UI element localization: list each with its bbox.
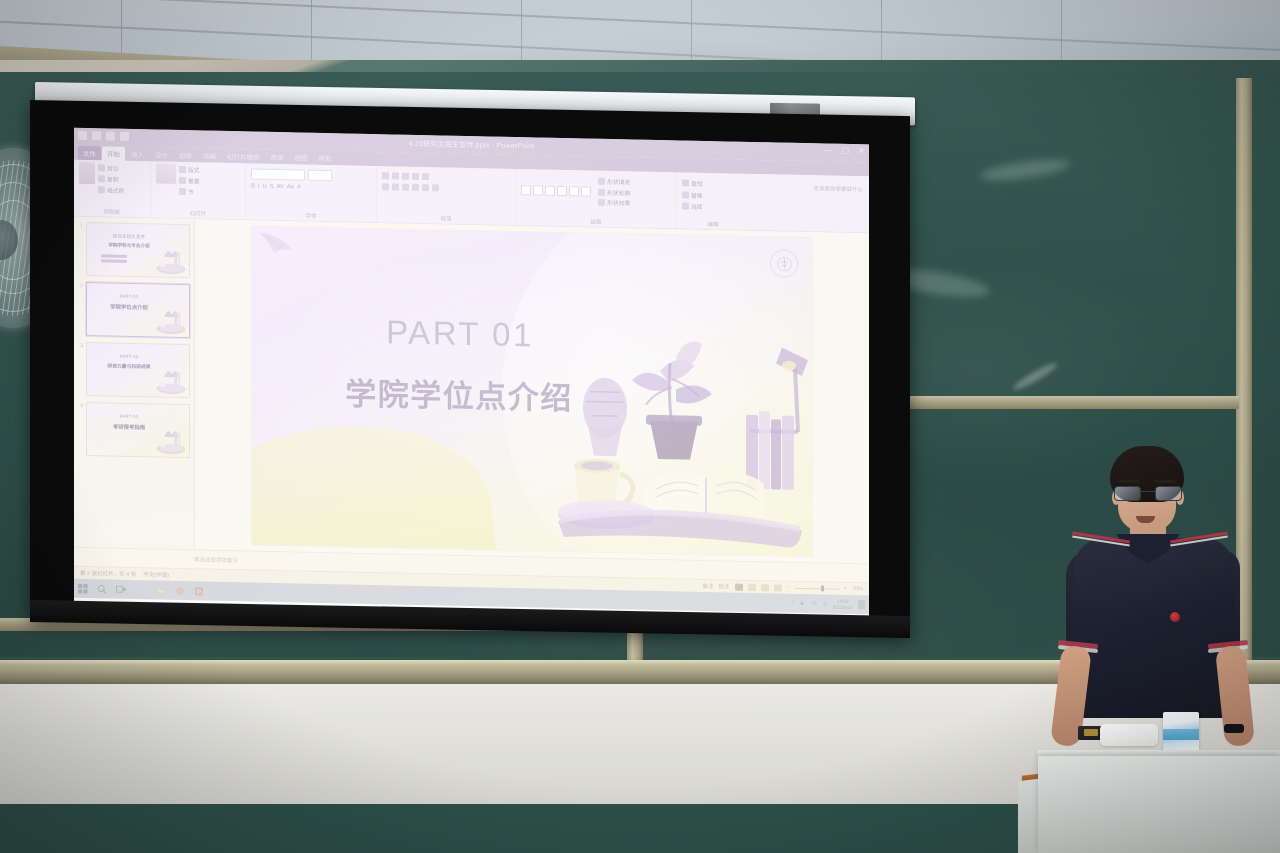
shape-gallery[interactable] [521, 185, 591, 196]
language-indicator[interactable]: 中文(中国) [143, 570, 169, 579]
shape-oval-icon[interactable] [533, 185, 543, 195]
tissue-pack [1100, 724, 1158, 746]
align-left-icon [382, 183, 389, 190]
lecture-podium [1038, 756, 1280, 853]
shape-arrow-icon[interactable] [545, 186, 555, 196]
ime-icon[interactable]: 中 [823, 601, 828, 607]
thumbnail-artwork-icon [154, 301, 188, 336]
justify-button[interactable] [412, 184, 419, 191]
new-slide-button[interactable] [156, 163, 176, 183]
font-color-button[interactable]: A [297, 184, 301, 190]
thumbnail-line1: PART 02 [93, 353, 165, 360]
glasses-icon [1114, 486, 1180, 499]
copy-button[interactable]: 复制 [98, 174, 124, 184]
leaf-decoration-icon [258, 231, 304, 272]
university-emblem-icon [770, 249, 798, 278]
group-label-clipboard: 剪贴板 [74, 207, 150, 217]
show-desktop-button[interactable] [858, 600, 865, 609]
font-size-input[interactable] [308, 170, 332, 182]
layout-button[interactable]: 版式 [179, 165, 200, 174]
tissue-box [1163, 712, 1199, 752]
reset-icon [179, 177, 186, 184]
ribbon-group-clipboard[interactable]: 剪切 复制 格式刷 剪贴板 [74, 160, 151, 218]
shape-line-icon[interactable] [557, 186, 567, 196]
numbering-icon [392, 172, 399, 179]
select-icon [682, 203, 689, 210]
tell-me-search[interactable]: 告诉我你想要做什么 [813, 186, 863, 193]
bold-button[interactable]: B [251, 183, 255, 189]
find-button[interactable]: 查找 [682, 179, 744, 189]
shape-effects-button[interactable]: 形状效果 [598, 198, 630, 208]
section-button[interactable]: 节 [179, 187, 200, 196]
tab-insert[interactable]: 插入 [126, 147, 149, 161]
volume-icon[interactable] [799, 600, 806, 607]
thumbnail-line1: 研究生招生宣传 [93, 233, 165, 241]
search-icon [682, 180, 689, 187]
file-explorer-icon[interactable] [156, 585, 166, 595]
format-painter-button[interactable]: 格式刷 [98, 185, 124, 195]
group-label-editing: 编辑 [677, 219, 749, 229]
slide-canvas-area[interactable]: PART 01 学院学位点介绍 [195, 219, 869, 563]
comments-toggle[interactable]: 批注 [719, 582, 730, 590]
thumbnail-number: 2 [78, 282, 83, 289]
fill-icon [598, 178, 605, 185]
projection-screen[interactable]: 4.23研究生招生宣传.pptx - PowerPoint — ▢ ✕ 文件 开… [30, 100, 910, 636]
slide-artwork-desk-illustration [550, 315, 812, 553]
tab-view[interactable]: 视图 [290, 150, 313, 164]
text-direction-icon [422, 173, 429, 180]
thumbnail-line1: PART 03 [93, 413, 165, 420]
thumbnail-artwork-icon [154, 241, 188, 276]
tab-slideshow[interactable]: 幻灯片放映 [222, 149, 265, 164]
thumbnail-slide-2[interactable]: 2 PART 01 学院学位点介绍 [78, 282, 190, 338]
maximize-button[interactable]: ▢ [842, 147, 850, 155]
layout-icon [179, 166, 186, 173]
justify-icon [412, 184, 419, 191]
show-hidden-icons-button[interactable]: ^ [792, 600, 794, 606]
thumbnail-number: 3 [78, 342, 83, 349]
classroom-scene: 4.23研究生招生宣传.pptx - PowerPoint — ▢ ✕ 文件 开… [0, 0, 1280, 853]
replace-button[interactable]: 替换 [682, 190, 744, 200]
shape-outline-button[interactable]: 形状轮廓 [598, 187, 630, 197]
align-right-button[interactable] [402, 184, 409, 191]
zoom-in-button[interactable]: + [844, 586, 847, 592]
view-normal-button[interactable] [735, 583, 743, 590]
ribbon-group-paragraph[interactable]: 段落 [377, 166, 516, 225]
bullets-icon [382, 172, 389, 179]
section-icon [179, 188, 186, 195]
align-center-button[interactable] [392, 183, 399, 190]
slide-background-wave-bottom [252, 414, 501, 556]
numbering-button[interactable] [392, 172, 399, 179]
change-case-button[interactable]: Aa [287, 184, 294, 190]
taskbar-clock[interactable]: 14:52 2023/4/23 [833, 599, 853, 610]
bullets-button[interactable] [382, 172, 389, 179]
line-spacing-icon [412, 173, 419, 180]
thumbnail-number: 1 [78, 222, 83, 229]
zoom-slider[interactable] [795, 587, 839, 589]
view-slideshow-button[interactable] [774, 584, 782, 591]
strikethrough-button[interactable]: S [270, 184, 274, 190]
tab-help[interactable]: 帮助 [314, 151, 337, 165]
indent-icon [402, 173, 409, 180]
zoom-level[interactable]: 70% [852, 586, 863, 592]
tab-design[interactable]: 设计 [150, 147, 173, 161]
group-label-font: 字体 [246, 210, 376, 221]
select-button[interactable]: 选择 [682, 202, 744, 212]
thumbnail-slide-1[interactable]: 1 研究生招生宣传 学院学科与专业介绍 [78, 222, 190, 278]
reset-button[interactable]: 重置 [179, 176, 200, 185]
window-controls[interactable]: — ▢ ✕ [825, 146, 865, 155]
group-label-slides: 幻灯片 [151, 208, 245, 218]
smartart-icon [432, 184, 439, 191]
ribbon-group-slides[interactable]: 版式 重置 节 幻灯片 [151, 161, 246, 219]
zoom-out-button[interactable]: − [787, 585, 790, 591]
view-slide-sorter-button[interactable] [748, 583, 756, 590]
line-spacing-button[interactable] [412, 173, 419, 180]
notes-placeholder: 单击此处添加备注 [194, 555, 238, 564]
view-reading-button[interactable] [761, 584, 769, 591]
outline-icon [598, 188, 605, 195]
svg-text:P: P [197, 589, 201, 595]
ribbon-group-editing[interactable]: 查找 替换 选择 编辑 [677, 172, 749, 230]
columns-icon [422, 184, 429, 191]
copy-icon [98, 175, 105, 182]
convert-smartart-button[interactable] [432, 184, 439, 191]
columns-button[interactable] [422, 184, 429, 191]
ribbon-group-drawing[interactable]: 形状填充 形状轮廓 形状效果 绘图 [516, 169, 677, 228]
indent-button[interactable] [402, 173, 409, 180]
powerpoint-window[interactable]: 4.23研究生招生宣传.pptx - PowerPoint — ▢ ✕ 文件 开… [74, 128, 869, 620]
scissors-icon [98, 164, 105, 171]
align-left-button[interactable] [382, 183, 389, 190]
presenter-shirt [1074, 538, 1234, 718]
shape-triangle-icon[interactable] [569, 186, 579, 196]
shape-fill-button[interactable]: 形状填充 [598, 177, 630, 187]
thumbnail-slide-3[interactable]: 3 PART 02 师资力量与科研成果 [78, 342, 190, 398]
current-slide[interactable]: PART 01 学院学位点介绍 [252, 226, 812, 556]
browser-icon[interactable] [175, 585, 185, 595]
cut-button[interactable]: 剪切 [98, 163, 124, 173]
shape-star-icon[interactable] [581, 186, 591, 196]
paste-button[interactable] [79, 162, 95, 184]
tab-file[interactable]: 文件 [78, 146, 101, 160]
minimize-button[interactable]: — [825, 146, 833, 154]
underline-button[interactable]: U [263, 184, 267, 190]
powerpoint-icon[interactable]: P [194, 586, 204, 596]
font-name-input[interactable] [251, 168, 305, 180]
thumbnail-artwork-icon [154, 421, 188, 456]
thumbnail-artwork-icon [154, 361, 188, 396]
shirt-logo-icon [1170, 612, 1180, 622]
belt-buckle-icon [1084, 729, 1098, 736]
tab-review[interactable]: 审阅 [266, 150, 289, 164]
thumbnail-slide-4[interactable]: 4 PART 03 考研报考指南 [78, 402, 190, 458]
text-direction-button[interactable] [422, 173, 429, 180]
windows-start-icon[interactable] [78, 583, 88, 593]
thumbnail-number: 4 [78, 402, 83, 409]
group-label-paragraph: 段落 [377, 213, 515, 224]
effects-icon [598, 199, 605, 206]
notes-toggle[interactable]: 备注 [703, 582, 714, 590]
ribbon-group-font[interactable]: B I U S AV Aa A 字体 [246, 163, 377, 222]
align-center-icon [392, 183, 399, 190]
italic-button[interactable]: I [258, 184, 260, 190]
search-icon[interactable] [97, 584, 107, 594]
close-button[interactable]: ✕ [858, 147, 865, 155]
tab-animations[interactable]: 动画 [198, 148, 221, 162]
slide-thumbnail-pane[interactable]: 1 研究生招生宣传 学院学科与专业介绍 [74, 217, 195, 550]
align-right-icon [402, 184, 409, 191]
shape-rect-icon[interactable] [521, 185, 531, 195]
task-view-icon[interactable] [116, 584, 126, 594]
paintbrush-icon [98, 186, 105, 193]
replace-icon [682, 191, 689, 198]
powerpoint-workspace: 1 研究生招生宣传 学院学科与专业介绍 [74, 217, 869, 564]
character-spacing-button[interactable]: AV [277, 184, 284, 190]
tab-home[interactable]: 开始 [102, 146, 125, 160]
clock-date: 2023/4/23 [833, 604, 853, 610]
thumbnail-line1: PART 01 [93, 293, 165, 300]
network-icon[interactable] [811, 600, 818, 607]
slide-counter: 第 2 张幻灯片，共 4 张 [80, 569, 136, 578]
tab-transitions[interactable]: 切换 [174, 148, 197, 162]
